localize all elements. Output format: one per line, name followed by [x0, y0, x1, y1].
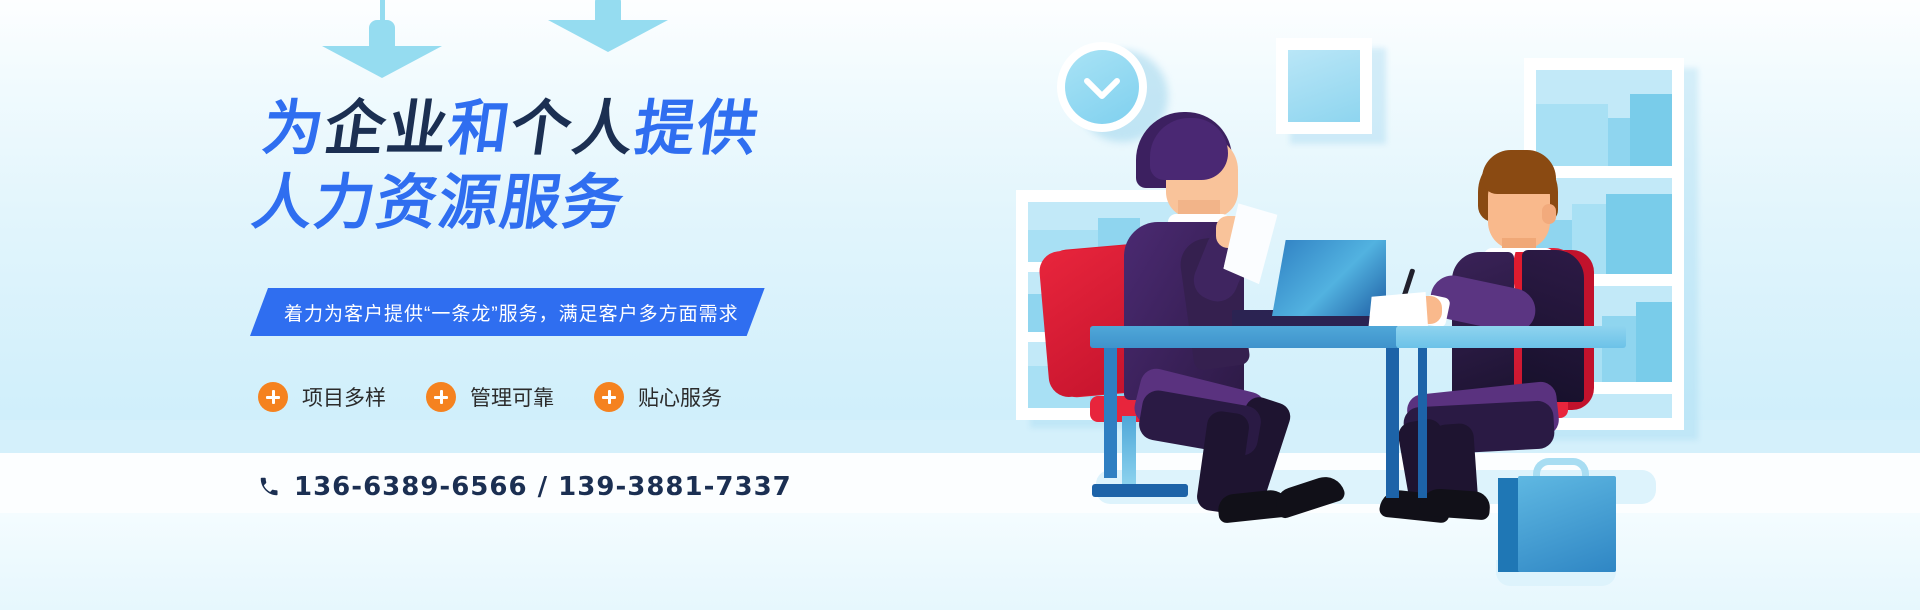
- phone-number: 136-6389-6566 / 139-3881-7337: [294, 472, 792, 502]
- plus-icon: [594, 382, 624, 412]
- desk-leg-right: [1386, 348, 1399, 498]
- headline-seg-5: 提供: [630, 94, 764, 164]
- laptop-screen: [1272, 240, 1386, 316]
- desk-top-front: [1090, 326, 1400, 348]
- briefcase-body: [1518, 476, 1616, 572]
- right-man-shoe-2: [1419, 488, 1491, 521]
- book: [1536, 104, 1608, 166]
- contact-phone[interactable]: 136-6389-6566 / 139-3881-7337: [258, 472, 792, 502]
- headline-seg-1: 为: [258, 94, 330, 164]
- headline-line-2: 人力资源服务: [248, 170, 753, 236]
- headline-seg-3: 和: [444, 94, 516, 164]
- banner-text-block: 为企业和个人提供 人力资源服务 着力为客户提供“一条龙”服务，满足客户多方面需求…: [0, 0, 820, 610]
- page-title: 为企业和个人提供 人力资源服务: [248, 96, 764, 236]
- phone-icon: [258, 476, 280, 498]
- bookshelf-right-cell-1: [1536, 70, 1672, 166]
- book: [1608, 118, 1630, 166]
- book: [1636, 302, 1672, 382]
- briefcase-side: [1498, 478, 1520, 572]
- clock-hands-icon: [1065, 50, 1139, 124]
- plus-icon: [258, 382, 288, 412]
- headline-line-1: 为企业和个人提供: [258, 94, 764, 164]
- headline-seg-4: 个人: [506, 94, 640, 164]
- feature-list: 项目多样 管理可靠 贴心服务: [258, 382, 722, 412]
- book: [1606, 194, 1672, 274]
- book: [1630, 94, 1672, 166]
- desk-leg-left: [1104, 348, 1117, 478]
- feature-item-3[interactable]: 贴心服务: [594, 382, 722, 412]
- right-man-hair-top: [1482, 150, 1556, 194]
- feature-label-1: 项目多样: [302, 382, 386, 412]
- hero-banner: 为企业和个人提供 人力资源服务 着力为客户提供“一条龙”服务，满足客户多方面需求…: [0, 0, 1920, 610]
- left-man-hair-front: [1150, 118, 1228, 180]
- chair-left-base: [1092, 484, 1188, 497]
- headline-seg-2: 企业: [320, 94, 454, 164]
- chair-left-column: [1122, 416, 1136, 488]
- subtitle-text: 着力为客户提供“一条龙”服务，满足客户多方面需求: [284, 299, 739, 326]
- subtitle-banner: 着力为客户提供“一条龙”服务，满足客户多方面需求: [250, 288, 765, 336]
- picture-frame-art: [1288, 50, 1360, 122]
- feature-item-2[interactable]: 管理可靠: [426, 382, 554, 412]
- right-man-ear: [1542, 204, 1556, 224]
- plus-icon: [426, 382, 456, 412]
- desk-leg-right-2: [1418, 348, 1427, 498]
- desk-top-back: [1396, 326, 1626, 348]
- feature-label-3: 贴心服务: [638, 382, 722, 412]
- feature-label-2: 管理可靠: [470, 382, 554, 412]
- feature-item-1[interactable]: 项目多样: [258, 382, 386, 412]
